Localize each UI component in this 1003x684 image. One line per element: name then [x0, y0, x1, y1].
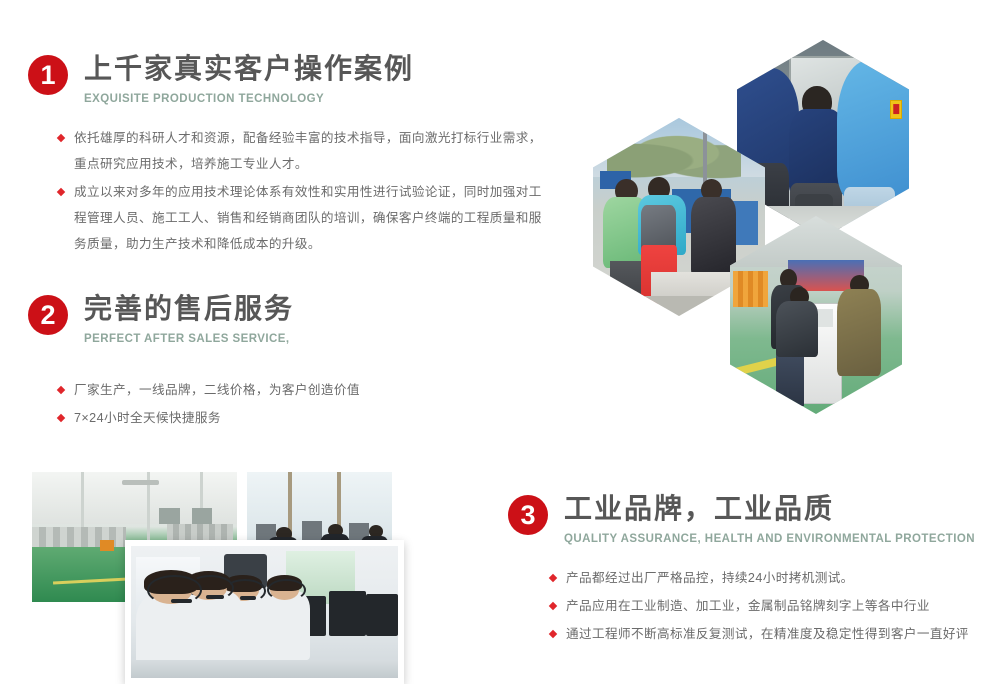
section-1-bullet-1: 依托雄厚的科研人才和资源，配备经验丰富的技术指导，面向激光打标行业需求，重点研究… — [74, 125, 548, 177]
section-3-heading-text: 工业品牌，工业品质 QUALITY ASSURANCE, HEALTH AND … — [564, 492, 975, 546]
section-1-bullet-2: 成立以来对多年的应用技术理论体系有效性和实用性进行试验论证，同时加强对工程管理人… — [74, 179, 548, 257]
scene-support-team — [131, 546, 398, 678]
person-dark-jacket — [691, 197, 736, 276]
monitor — [366, 594, 398, 636]
person-green-legs — [610, 261, 644, 316]
yellow-badge — [890, 100, 903, 119]
list-item: 依托雄厚的科研人才和资源，配备经验丰富的技术指导，面向激光打标行业需求，重点研究… — [58, 125, 548, 177]
diamond-bullet-icon — [549, 574, 557, 582]
section-2-bullet-1: 厂家生产，一线品牌，二线价格，为客户创造价值 — [74, 377, 478, 403]
section-2-bullet-2: 7×24小时全天候快捷服务 — [74, 405, 478, 431]
person-olive-jacket — [837, 289, 882, 376]
diamond-bullet-icon — [57, 414, 65, 422]
section-1-number-badge: 1 — [28, 55, 68, 95]
list-item: 厂家生产，一线品牌，二线价格，为客户创造价值 — [58, 377, 478, 403]
list-item: 产品应用在工业制造、加工业，金属制品铭牌刻字上等各中行业 — [550, 593, 980, 619]
facility-photo-collage — [32, 472, 392, 672]
section-2-title-cn: 完善的售后服务 — [84, 292, 294, 326]
section-3-bullet-2: 产品应用在工业制造、加工业，金属制品铭牌刻字上等各中行业 — [566, 593, 980, 619]
diamond-bullet-icon — [549, 602, 557, 610]
section-3-bullet-3: 通过工程师不断高标准反复测试，在精准度及稳定性得到客户一直好评 — [566, 621, 980, 647]
list-item: 7×24小时全天候快捷服务 — [58, 405, 478, 431]
wall-vent — [192, 508, 213, 524]
list-item: 成立以来对多年的应用技术理论体系有效性和实用性进行试验论证，同时加强对工程管理人… — [58, 179, 548, 257]
section-3-heading: 3 工业品牌，工业品质 QUALITY ASSURANCE, HEALTH AN… — [508, 492, 975, 546]
person-bending-body — [776, 301, 817, 356]
photo-support — [125, 540, 404, 684]
monitor — [329, 591, 366, 636]
microphone-icon — [171, 599, 192, 604]
section-1-heading: 1 上千家真实客户操作案例 EXQUISITE PRODUCTION TECHN… — [28, 52, 414, 106]
microphone-icon — [206, 595, 225, 599]
section-2-heading-text: 完善的售后服务 PERFECT AFTER SALES SERVICE, — [84, 292, 294, 346]
section-2-number-badge: 2 — [28, 295, 68, 335]
section-1-bullet-list: 依托雄厚的科研人才和资源，配备经验丰富的技术指导，面向激光打标行业需求，重点研究… — [58, 125, 548, 257]
badge-mark — [893, 104, 899, 114]
list-item: 通过工程师不断高标准反复测试，在精准度及稳定性得到客户一直好评 — [550, 621, 980, 647]
diamond-bullet-icon — [57, 188, 65, 196]
diamond-bullet-icon — [57, 134, 65, 142]
section-2-heading: 2 完善的售后服务 PERFECT AFTER SALES SERVICE, — [28, 292, 294, 346]
diamond-bullet-icon — [57, 386, 65, 394]
person-blue-coat — [837, 60, 909, 203]
hexagon-photo-cluster — [585, 18, 985, 418]
section-3-title-en: QUALITY ASSURANCE, HEALTH AND ENVIRONMEN… — [564, 532, 975, 546]
wall-vent — [159, 508, 180, 524]
support-desk — [131, 660, 398, 678]
section-1-heading-text: 上千家真实客户操作案例 EXQUISITE PRODUCTION TECHNOL… — [84, 52, 414, 106]
promo-page: 1 上千家真实客户操作案例 EXQUISITE PRODUCTION TECHN… — [0, 0, 1003, 684]
section-1-title-cn: 上千家真实客户操作案例 — [84, 52, 414, 86]
section-3-title-cn: 工业品牌，工业品质 — [564, 492, 975, 526]
microphone-icon — [240, 596, 256, 600]
section-3-number-badge: 3 — [508, 495, 548, 535]
stacked-boxes — [733, 271, 767, 307]
section-1-title-en: EXQUISITE PRODUCTION TECHNOLOGY — [84, 92, 414, 106]
list-item: 产品都经过出厂严格品控，持续24小时拷机测试。 — [550, 565, 980, 591]
orange-cart — [100, 540, 114, 552]
ceiling-fan-icon — [122, 480, 159, 485]
section-3-bullet-1: 产品都经过出厂严格品控，持续24小时拷机测试。 — [566, 565, 980, 591]
diamond-bullet-icon — [549, 630, 557, 638]
section-3-bullet-list: 产品都经过出厂严格品控，持续24小时拷机测试。 产品应用在工业制造、加工业，金属… — [550, 565, 980, 647]
section-2-bullet-list: 厂家生产，一线品牌，二线价格，为客户创造价值 7×24小时全天候快捷服务 — [58, 377, 478, 431]
section-2-title-en: PERFECT AFTER SALES SERVICE, — [84, 332, 294, 346]
